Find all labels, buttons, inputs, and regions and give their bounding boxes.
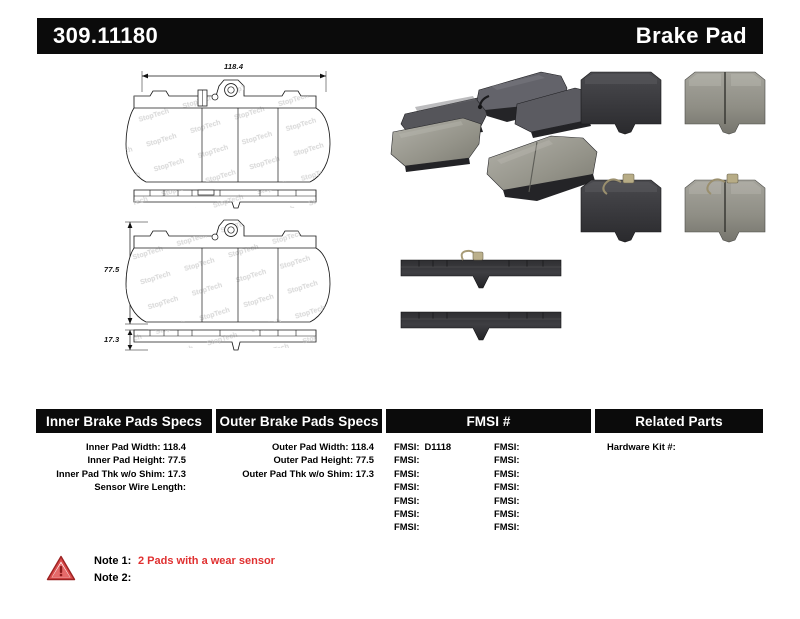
fmsi-label: FMSI: xyxy=(394,508,420,519)
photo-edge-wear-sensor xyxy=(462,251,483,260)
cad-drawing-svg: StopTech xyxy=(120,62,370,382)
fmsi-value: D1118 xyxy=(420,441,452,452)
spec-row: Outer Pad Width: 118.4 xyxy=(216,440,382,453)
table-column-fmsi: FMSI # FMSI:D1118 FMSI: FMSI: FMSI: FMSI… xyxy=(386,409,591,440)
fmsi-value xyxy=(520,454,525,465)
fmsi-value xyxy=(520,508,525,519)
photo-edge-pad-upper xyxy=(401,251,561,288)
photo-pad-front-right xyxy=(487,136,597,201)
specs-table: Inner Brake Pads Specs Inner Pad Width: … xyxy=(36,409,763,539)
dimension-thickness-label: 17.3 xyxy=(104,335,119,344)
photo-grid-pad-top-left xyxy=(581,72,661,134)
fmsi-row: FMSI: xyxy=(494,467,525,480)
fmsi-label: FMSI: xyxy=(394,495,420,506)
related-parts-row: Hardware Kit #: xyxy=(595,440,763,453)
fmsi-label: FMSI: xyxy=(494,481,520,492)
dimension-height-label: 77.5 xyxy=(104,265,119,274)
fmsi-row: FMSI: xyxy=(394,480,451,493)
fmsi-label: FMSI: xyxy=(494,454,520,465)
fmsi-label: FMSI: xyxy=(494,508,520,519)
fmsi-row: FMSI: xyxy=(394,467,451,480)
technical-drawing-group: StopTech xyxy=(120,62,370,382)
fmsi-value xyxy=(420,521,425,532)
fmsi-label: FMSI: xyxy=(394,481,420,492)
fmsi-row: FMSI: xyxy=(394,507,451,520)
notes-section: Note 1: 2 Pads with a wear sensor Note 2… xyxy=(46,553,546,597)
fmsi-body: FMSI:D1118 FMSI: FMSI: FMSI: FMSI: FMSI:… xyxy=(386,433,591,440)
spec-row: Sensor Wire Length: xyxy=(36,480,212,493)
note-1-label: Note 1: xyxy=(94,553,138,570)
part-number-banner: 309.11180 xyxy=(37,18,427,54)
fmsi-label: FMSI: xyxy=(394,454,420,465)
fmsi-value xyxy=(420,481,425,492)
note-row-2: Note 2: xyxy=(94,570,275,587)
photo-grid-four-pads xyxy=(581,72,765,242)
outer-specs-body: Outer Pad Width: 118.4 Outer Pad Height:… xyxy=(216,433,382,480)
part-number: 309.11180 xyxy=(37,23,158,49)
fmsi-row: FMSI: xyxy=(394,520,451,533)
fmsi-label: FMSI: xyxy=(494,495,520,506)
note-2-label: Note 2: xyxy=(94,570,138,587)
fmsi-label: FMSI: xyxy=(394,521,420,532)
table-column-inner: Inner Brake Pads Specs Inner Pad Width: … xyxy=(36,409,212,494)
photo-angled-four-pads xyxy=(391,72,597,201)
fmsi-row: FMSI:D1118 xyxy=(394,440,451,453)
fmsi-row: FMSI: xyxy=(494,520,525,533)
fmsi-label: FMSI: xyxy=(494,521,520,532)
spec-row: Inner Pad Thk w/o Shim: 17.3 xyxy=(36,467,212,480)
photo-edge-pad-lower xyxy=(401,312,561,340)
photo-grid-pad-bottom-right xyxy=(685,174,765,242)
table-column-outer: Outer Brake Pads Specs Outer Pad Width: … xyxy=(216,409,382,480)
note-1-value: 2 Pads with a wear sensor xyxy=(138,553,275,570)
product-type-banner: Brake Pad xyxy=(427,18,763,54)
related-parts-body: Hardware Kit #: xyxy=(595,433,763,453)
pad-face-view-bottom xyxy=(120,216,370,328)
related-parts-header: Related Parts xyxy=(595,409,763,433)
fmsi-value xyxy=(420,508,425,519)
inner-specs-body: Inner Pad Width: 118.4 Inner Pad Height:… xyxy=(36,433,212,494)
spec-sheet-page: 309.11180 Brake Pad StopTech xyxy=(0,0,800,619)
spec-row: Inner Pad Width: 118.4 xyxy=(36,440,212,453)
product-photos-svg xyxy=(385,62,785,382)
fmsi-row: FMSI: xyxy=(494,453,525,466)
spec-row: Outer Pad Height: 77.5 xyxy=(216,453,382,466)
fmsi-label: FMSI: xyxy=(394,468,420,479)
fmsi-header: FMSI # xyxy=(386,409,591,433)
pad-edge-view-top xyxy=(120,188,370,210)
dimension-width-label: 118.4 xyxy=(224,62,243,71)
photo-grid-pad-bottom-left xyxy=(581,174,661,242)
header-bar: 309.11180 Brake Pad xyxy=(37,18,763,54)
fmsi-value xyxy=(520,521,525,532)
fmsi-row: FMSI: xyxy=(494,440,525,453)
fmsi-label: FMSI: xyxy=(494,468,520,479)
fmsi-left-column: FMSI:D1118 FMSI: FMSI: FMSI: FMSI: FMSI:… xyxy=(394,440,451,534)
fmsi-value xyxy=(420,468,425,479)
note-row-1: Note 1: 2 Pads with a wear sensor xyxy=(94,553,275,570)
fmsi-value xyxy=(420,454,425,465)
warning-icon xyxy=(46,555,76,581)
fmsi-label: FMSI: xyxy=(394,441,420,452)
spec-row: Inner Pad Height: 77.5 xyxy=(36,453,212,466)
photo-grid-pad-top-right xyxy=(685,72,765,134)
table-column-related-parts: Related Parts Hardware Kit #: xyxy=(595,409,763,453)
outer-specs-header: Outer Brake Pads Specs xyxy=(216,409,382,433)
pad-edge-view-bottom xyxy=(120,328,370,352)
fmsi-value xyxy=(520,441,525,452)
inner-specs-header: Inner Brake Pads Specs xyxy=(36,409,212,433)
fmsi-value xyxy=(520,481,525,492)
product-photo-group xyxy=(385,62,785,382)
photo-edge-view-pads xyxy=(401,251,561,340)
fmsi-value xyxy=(520,495,525,506)
fmsi-value xyxy=(420,495,425,506)
fmsi-row: FMSI: xyxy=(494,507,525,520)
spec-row: Outer Pad Thk w/o Shim: 17.3 xyxy=(216,467,382,480)
fmsi-value xyxy=(520,468,525,479)
fmsi-row: FMSI: xyxy=(494,480,525,493)
pad-face-view-top xyxy=(120,76,370,188)
product-type: Brake Pad xyxy=(636,23,763,49)
fmsi-label: FMSI: xyxy=(494,441,520,452)
fmsi-right-column: FMSI: FMSI: FMSI: FMSI: FMSI: FMSI: FMSI… xyxy=(494,440,525,534)
fmsi-row: FMSI: xyxy=(394,453,451,466)
fmsi-row: FMSI: xyxy=(394,494,451,507)
note-rows: Note 1: 2 Pads with a wear sensor Note 2… xyxy=(94,553,275,586)
fmsi-row: FMSI: xyxy=(494,494,525,507)
